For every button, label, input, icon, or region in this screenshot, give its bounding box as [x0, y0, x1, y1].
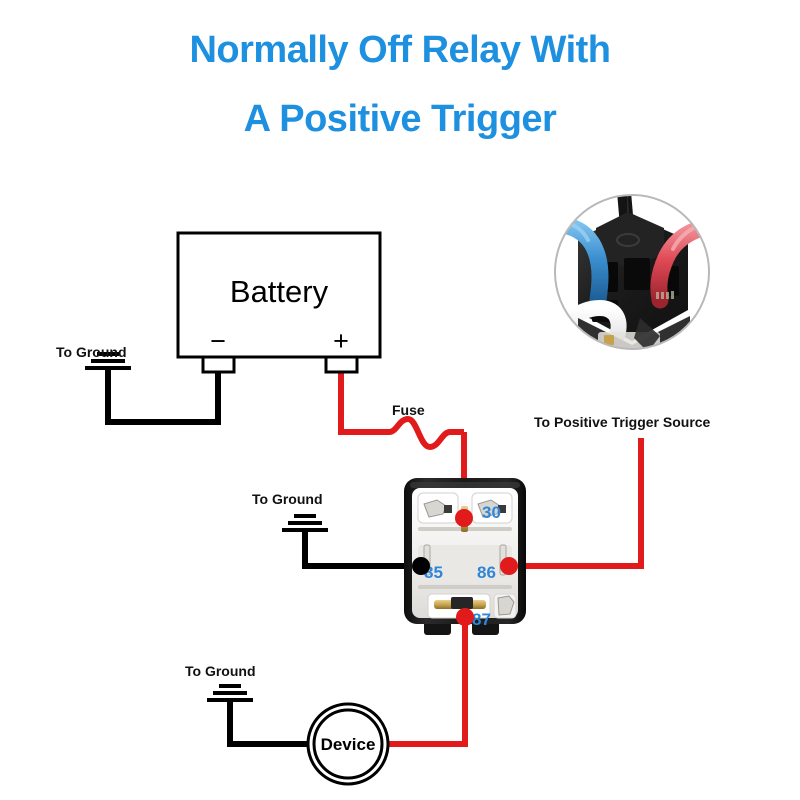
battery-negative-sign: − [210, 326, 226, 356]
node-pin30 [455, 509, 473, 527]
device-component: Device [308, 704, 388, 784]
trigger-source-label: To Positive Trigger Source [534, 414, 711, 430]
wire-battery-positive-to-fuse [341, 368, 389, 432]
ground-icon-coil [282, 516, 328, 530]
page-title-line-2: A Positive Trigger [244, 98, 557, 140]
wiring-diagram-svg: Normally Off Relay With A Positive Trigg… [0, 0, 800, 800]
wire-battery-negative-to-ground [108, 368, 218, 422]
ground-icon-device [207, 686, 253, 700]
relay-contact-87 [451, 597, 473, 609]
relay-pin-label-86: 86 [477, 563, 496, 582]
battery-negative-terminal [203, 357, 234, 372]
battery-positive-sign: + [333, 326, 349, 356]
relay-divider-bottom [418, 585, 512, 589]
fuse-label: Fuse [392, 402, 425, 418]
ground-label-coil: To Ground [252, 491, 323, 507]
wire-pin87-to-device [388, 617, 465, 744]
photo-cavity-2 [624, 258, 650, 290]
relay-pin-label-30: 30 [482, 503, 501, 522]
ground-label-battery: To Ground [56, 344, 127, 360]
relay-pin-label-87: 87 [472, 610, 491, 629]
node-pin87 [456, 608, 474, 626]
wire-pin86-to-trigger-source [508, 438, 641, 566]
device-label: Device [321, 735, 376, 754]
wiring-diagram-canvas: Normally Off Relay With A Positive Trigg… [0, 0, 800, 800]
relay-photo-inset [528, 180, 722, 380]
wire-device-to-ground [230, 700, 308, 744]
node-pin85 [412, 557, 430, 575]
battery-component: Battery − + [178, 233, 380, 372]
battery-label: Battery [230, 274, 329, 309]
relay-housing-highlight [410, 482, 520, 488]
battery-positive-terminal [326, 357, 357, 372]
page-title-line-1: Normally Off Relay With [189, 29, 610, 71]
ground-label-device: To Ground [185, 663, 256, 679]
fuse-squiggle-icon [389, 419, 464, 447]
node-pin86 [500, 557, 518, 575]
